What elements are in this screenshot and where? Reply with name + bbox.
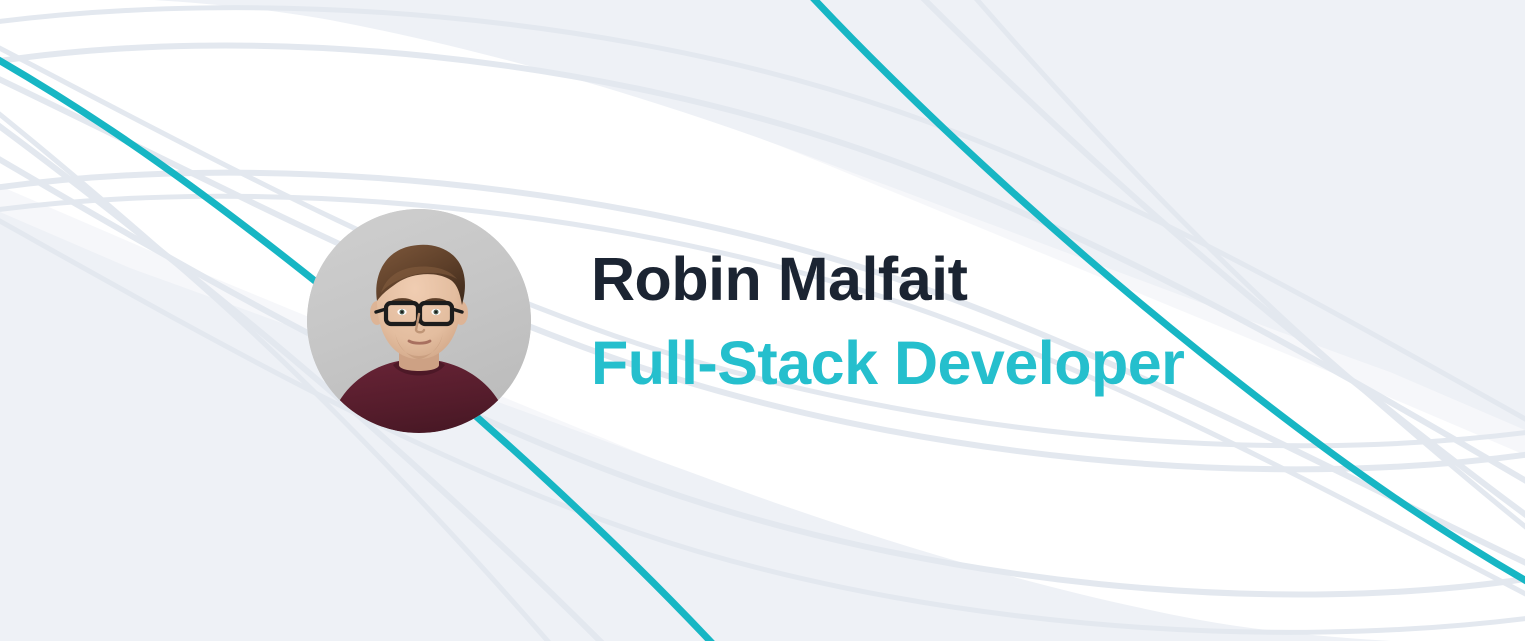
avatar xyxy=(307,209,531,433)
person-name: Robin Malfait xyxy=(591,237,1184,321)
profile-banner: Robin Malfait Full-Stack Developer xyxy=(0,0,1525,641)
avatar-photo-icon xyxy=(307,209,531,433)
profile-content: Robin Malfait Full-Stack Developer xyxy=(0,0,1525,641)
person-role: Full-Stack Developer xyxy=(591,321,1184,405)
identity-block: Robin Malfait Full-Stack Developer xyxy=(591,237,1184,405)
